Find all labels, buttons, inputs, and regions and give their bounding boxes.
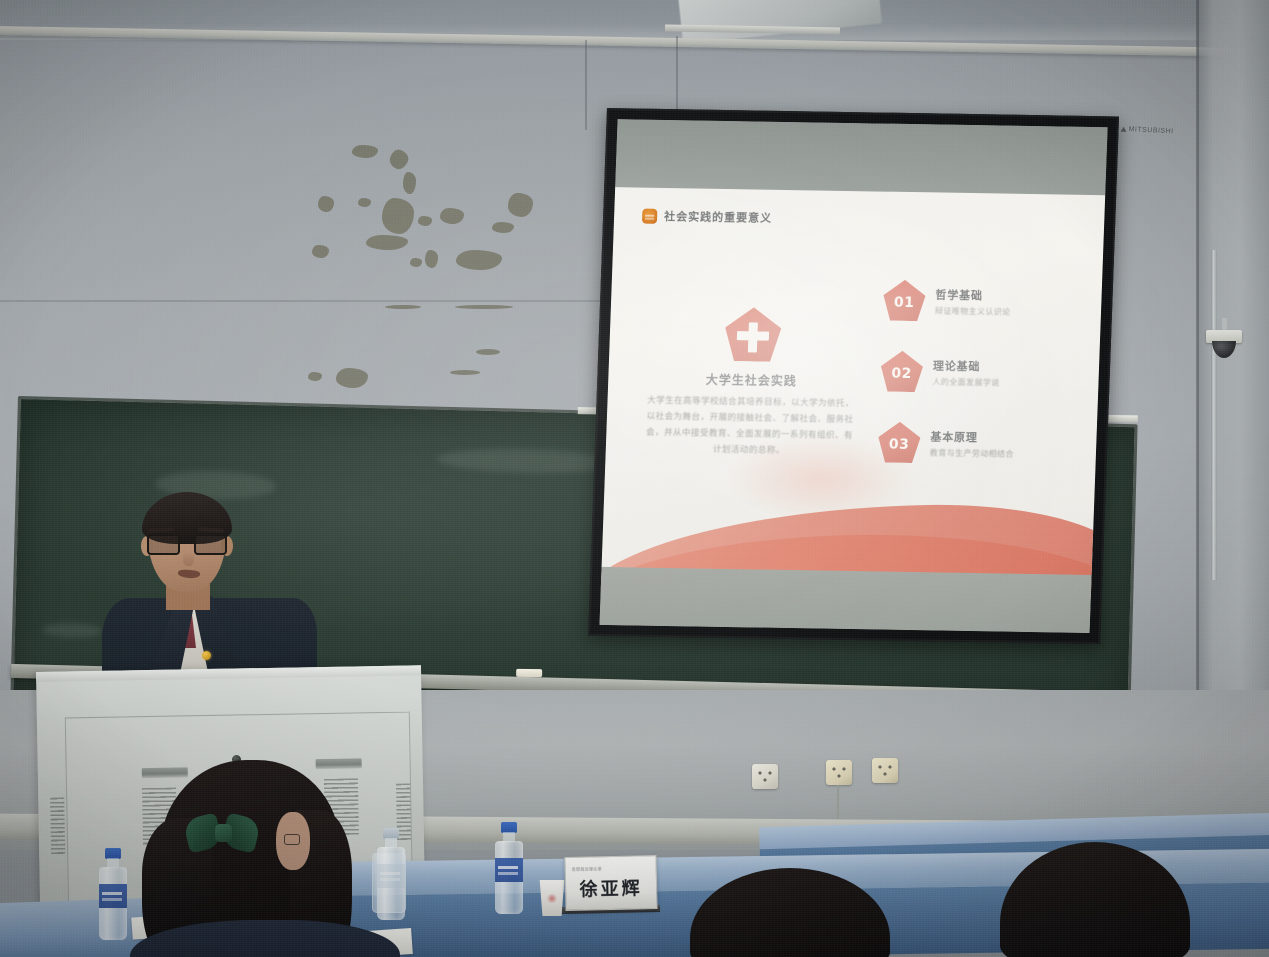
mitsubishi-logo-icon <box>1120 127 1126 132</box>
paint-peel-patch <box>476 349 500 355</box>
paint-peel-patch <box>455 305 513 309</box>
bow-knot <box>215 824 232 842</box>
nameplate: 思想政治理论课 徐亚辉 <box>564 855 657 911</box>
presenter-nose <box>183 552 194 566</box>
glasses-lens <box>194 534 227 555</box>
pentagon-number-icon: 02 <box>880 351 923 393</box>
student-front-right <box>690 868 890 957</box>
student-hair <box>690 868 890 957</box>
chalk-piece <box>516 669 542 677</box>
hair-bow-icon <box>186 812 260 854</box>
paint-peel-patch <box>450 370 480 375</box>
student-hair <box>1000 842 1190 957</box>
wall-pipe <box>1211 250 1217 580</box>
slide-item-texts: 理论基础 人的全面发展学说 <box>932 357 1077 389</box>
wall-seam <box>585 40 587 130</box>
slide-item: 03 基本原理 教育与生产劳动相结合 <box>877 421 1074 465</box>
water-bottle-clear[interactable] <box>376 828 406 920</box>
slide-item-texts: 基本原理 教育与生产劳动相结合 <box>930 428 1075 460</box>
pillar-edge <box>1196 0 1199 790</box>
presentation-slide: 社会实践的重要意义 大学生社会实践 大学生在高等学校结合其培养目标，以大学为依托… <box>601 187 1105 597</box>
bottle-label <box>99 884 127 908</box>
red-seal-icon <box>642 208 658 223</box>
student-front-left <box>140 760 370 957</box>
pentagon-number-icon: 01 <box>883 280 926 322</box>
slide-item-title: 哲学基础 <box>935 286 1080 304</box>
pentagon-cross-icon <box>724 307 782 362</box>
projection-screen[interactable]: 社会实践的重要意义 大学生社会实践 大学生在高等学校结合其培养目标，以大学为依托… <box>588 108 1119 644</box>
outlet-holes-icon <box>831 766 847 779</box>
slide-item: 02 理论基础 人的全面发展学说 <box>880 351 1077 395</box>
glasses-lens <box>147 534 180 555</box>
slide-item-number: 01 <box>894 294 915 310</box>
outlet-holes-icon <box>877 764 893 777</box>
projection-screen-surface: 社会实践的重要意义 大学生社会实践 大学生在高等学校结合其培养目标，以大学为依托… <box>600 119 1108 633</box>
nameplate-name: 徐亚辉 <box>579 874 643 901</box>
wall-seam <box>0 300 600 302</box>
slide-item-desc: 人的全面发展学说 <box>932 376 1076 389</box>
podium-vent-grille <box>50 798 65 856</box>
slide-item-desc: 教育与生产劳动相结合 <box>930 447 1074 460</box>
slide-item-desc: 辩证唯物主义认识论 <box>935 305 1079 318</box>
slide-item-title: 理论基础 <box>933 357 1078 375</box>
lapel-pin-icon <box>202 651 211 660</box>
bottle-label <box>377 864 405 888</box>
wall-outlet-icon[interactable] <box>872 758 898 783</box>
slide-item-title: 基本原理 <box>930 428 1075 446</box>
paint-peel-patch <box>385 305 421 309</box>
screen-bottom-band <box>600 567 1092 633</box>
lecture-hall-photo: 社会实践的重要意义 大学生社会实践 大学生在高等学校结合其培养目标，以大学为依托… <box>0 0 1269 957</box>
nameplate-organization: 思想政治理论课 <box>572 866 602 873</box>
water-bottle[interactable] <box>98 848 128 940</box>
slide-header: 社会实践的重要意义 <box>642 208 773 226</box>
wall-pillar <box>1197 0 1269 780</box>
slide-item-number: 02 <box>891 365 912 381</box>
outlet-holes-icon <box>757 770 773 783</box>
screen-top-band <box>615 119 1107 195</box>
bottle-label <box>495 858 523 882</box>
slide-subheading: 大学生社会实践 <box>644 370 859 391</box>
wall-outlet-icon[interactable] <box>826 760 852 785</box>
student-far-right <box>1000 842 1190 957</box>
slide-title: 社会实践的重要意义 <box>664 208 773 226</box>
wall-outlet-icon[interactable] <box>752 764 778 789</box>
glasses-bridge <box>182 542 195 544</box>
slide-item-texts: 哲学基础 辩证唯物主义认识论 <box>935 286 1080 318</box>
glasses-icon <box>284 834 300 845</box>
water-bottle[interactable] <box>494 822 524 914</box>
slide-item: 01 哲学基础 辩证唯物主义认识论 <box>883 280 1080 324</box>
